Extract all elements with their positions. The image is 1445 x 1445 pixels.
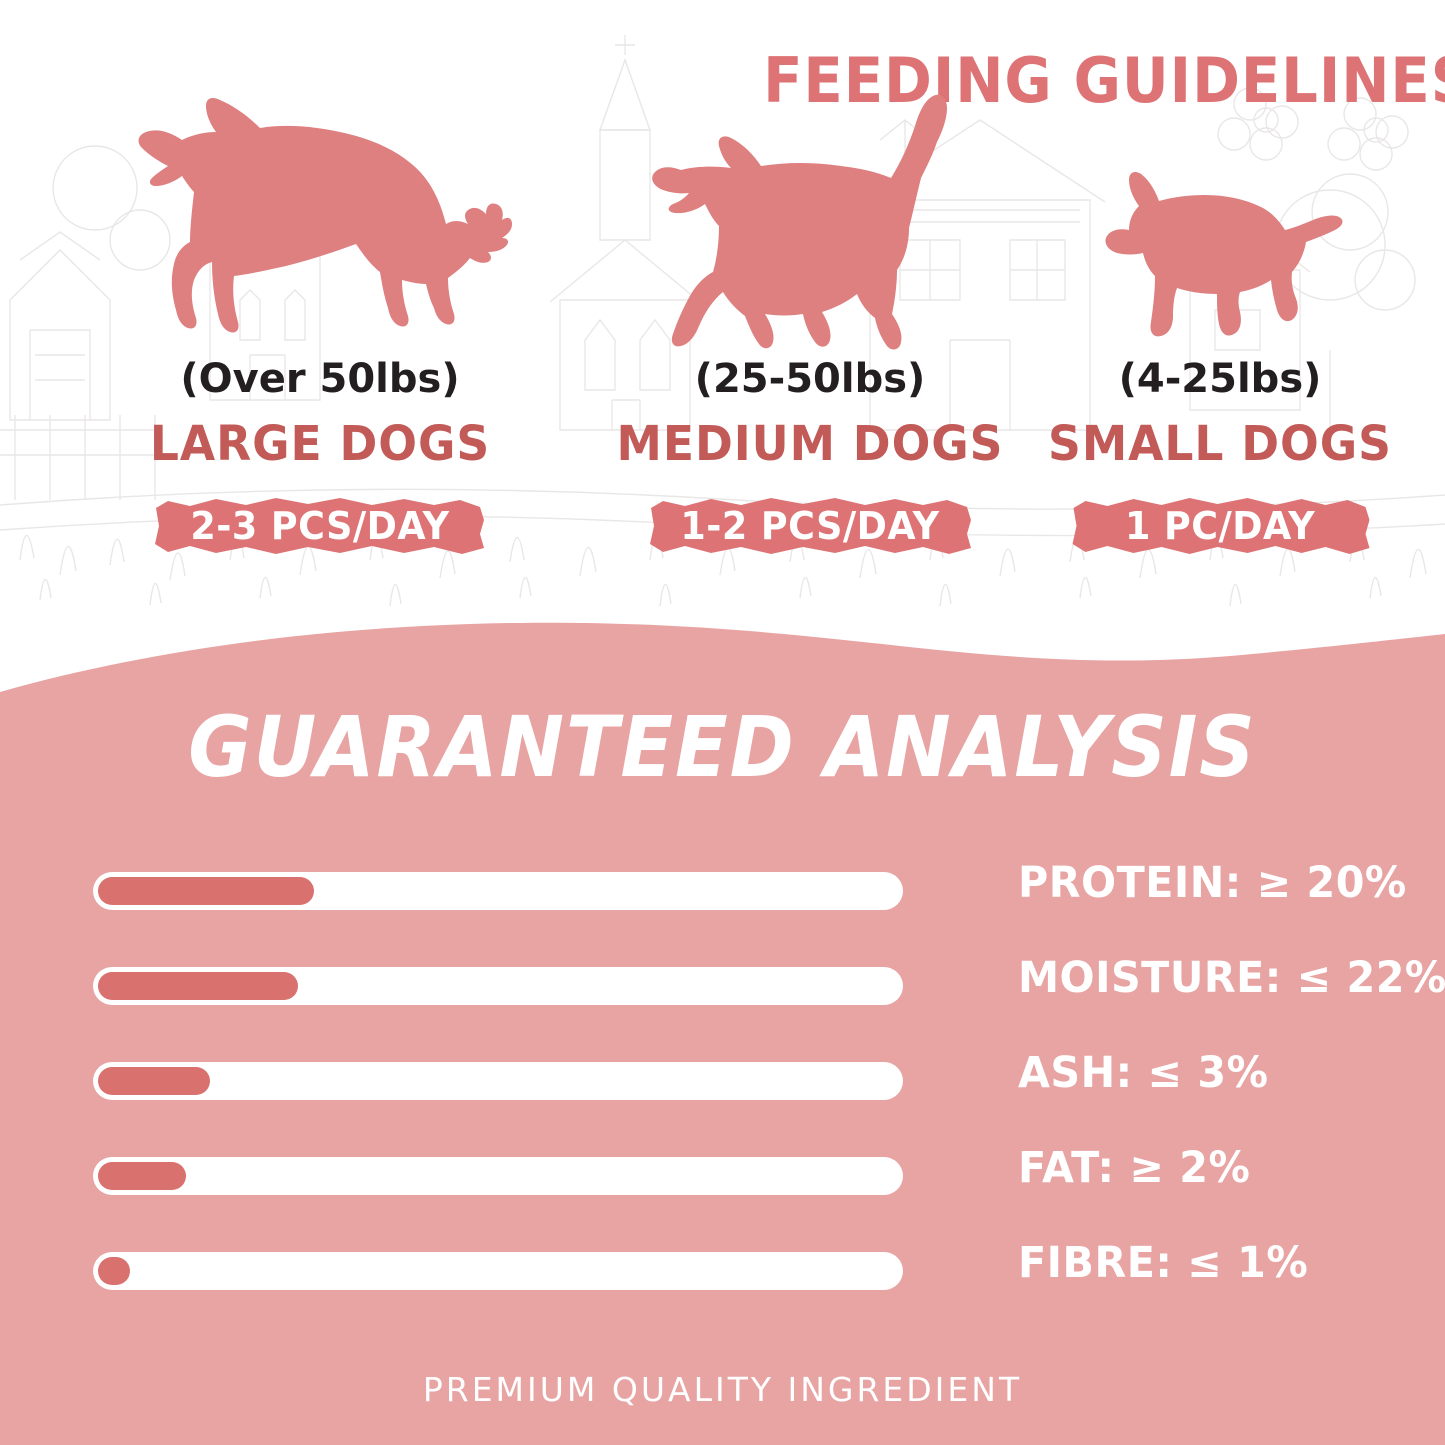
medium-dog-dose-badge: 1-2 PCS/DAY [641, 492, 979, 560]
large-dog-weight-label: (Over 50lbs) [40, 356, 600, 402]
protein-bar-track [93, 872, 903, 910]
large-dog-silhouette-icon [120, 70, 520, 350]
protein-bar-fill [98, 877, 314, 905]
moisture-bar-track [93, 967, 903, 1005]
ash-bar-track [93, 1062, 903, 1100]
fibre-bar-track [93, 1252, 903, 1290]
small-dog-art [1020, 50, 1420, 350]
nutrient-row-protein: PROTEIN: ≥ 20% [0, 850, 1445, 945]
large-dog-dose-text: 2-3 PCS/DAY [158, 492, 482, 560]
guaranteed-analysis-panel: GUARANTEED ANALYSIS PROTEIN: ≥ 20% MOIST… [0, 600, 1445, 1445]
ash-label: ASH: ≤ 3% [1018, 1048, 1268, 1098]
feeding-column-small-dogs: (4-25lbs) SMALL DOGS 1 PC/DAY [1020, 50, 1420, 560]
nutrient-row-moisture: MOISTURE: ≤ 22% [0, 945, 1445, 1040]
medium-dog-silhouette-icon [645, 70, 975, 350]
medium-dog-art [560, 50, 1060, 350]
moisture-label: MOISTURE: ≤ 22% [1018, 953, 1445, 1003]
medium-dog-dose-text: 1-2 PCS/DAY [648, 492, 972, 560]
ash-bar-fill [98, 1067, 210, 1095]
large-dog-art [40, 50, 600, 350]
nutrient-rows-list: PROTEIN: ≥ 20% MOISTURE: ≤ 22% ASH: ≤ 3%… [0, 850, 1445, 1325]
premium-quality-footer: PREMIUM QUALITY INGREDIENT [0, 1370, 1445, 1409]
fibre-bar-fill [98, 1257, 130, 1285]
large-dog-size-label: LARGE DOGS [54, 416, 586, 472]
protein-label: PROTEIN: ≥ 20% [1018, 858, 1407, 908]
large-dog-dose-badge: 2-3 PCS/DAY [151, 492, 489, 560]
medium-dog-weight-label: (25-50lbs) [560, 356, 1060, 402]
small-dog-weight-label: (4-25lbs) [1020, 356, 1420, 402]
small-dog-dose-badge: 1 PC/DAY [1087, 492, 1353, 560]
nutrient-row-fibre: FIBRE: ≤ 1% [0, 1230, 1445, 1325]
moisture-bar-fill [98, 972, 298, 1000]
nutrient-row-fat: FAT: ≥ 2% [0, 1135, 1445, 1230]
fat-label: FAT: ≥ 2% [1018, 1143, 1250, 1193]
nutrient-row-ash: ASH: ≤ 3% [0, 1040, 1445, 1135]
small-dog-silhouette-icon [1095, 70, 1345, 350]
medium-dog-size-label: MEDIUM DOGS [573, 416, 1048, 472]
small-dog-size-label: SMALL DOGS [1030, 416, 1410, 472]
fat-bar-track [93, 1157, 903, 1195]
feeding-guidelines-infographic: FEEDING GUIDELINES (Over 50lbs) LARGE DO… [0, 0, 1445, 1445]
small-dog-dose-text: 1 PC/DAY [1092, 492, 1347, 560]
feeding-column-large-dogs: (Over 50lbs) LARGE DOGS 2-3 PCS/DAY [40, 50, 600, 560]
fat-bar-fill [98, 1162, 186, 1190]
fibre-label: FIBRE: ≤ 1% [1018, 1238, 1308, 1288]
guaranteed-analysis-title: GUARANTEED ANALYSIS [58, 698, 1387, 796]
feeding-column-medium-dogs: (25-50lbs) MEDIUM DOGS 1-2 PCS/DAY [560, 50, 1060, 560]
